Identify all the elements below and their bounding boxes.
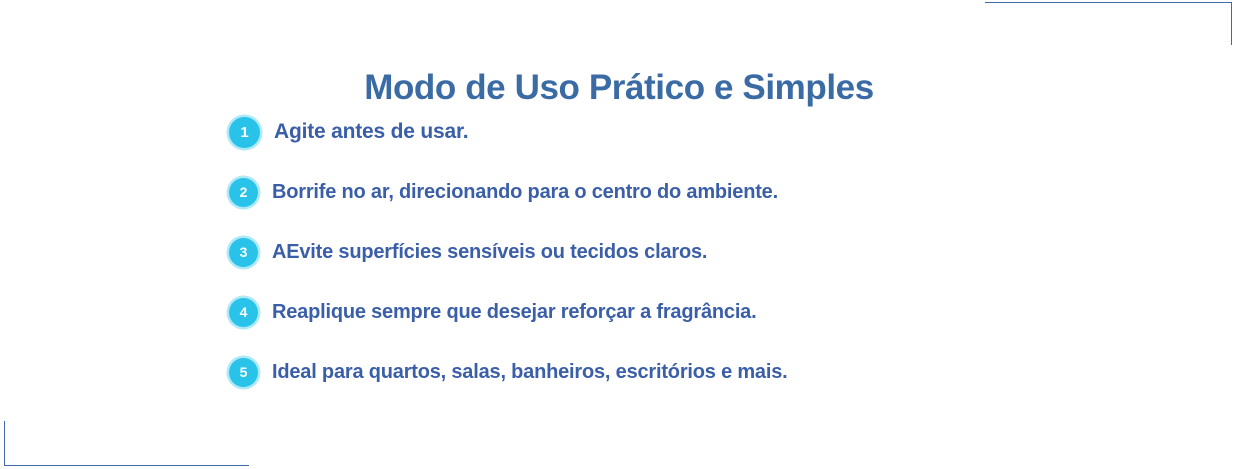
step-text: Ideal para quartos, salas, banheiros, es… [272, 360, 788, 384]
page-title: Modo de Uso Prático e Simples [0, 67, 1238, 109]
list-item: 4 Reaplique sempre que desejar reforçar … [229, 294, 1129, 330]
step-number-badge: 2 [229, 178, 258, 207]
list-item: 5 Ideal para quartos, salas, banheiros, … [229, 354, 1129, 390]
decorative-corner-top-right [985, 2, 1232, 45]
step-number-badge: 4 [229, 298, 258, 327]
slide-canvas: Modo de Uso Prático e Simples 1 Agite an… [0, 0, 1238, 469]
step-text: Agite antes de usar. [274, 120, 468, 144]
list-item: 2 Borrife no ar, direcionando para o cen… [229, 174, 1129, 210]
steps-list: 1 Agite antes de usar. 2 Borrife no ar, … [229, 114, 1129, 390]
step-text: Borrife no ar, direcionando para o centr… [272, 180, 778, 204]
decorative-corner-bottom-left [4, 421, 249, 466]
step-text: Reaplique sempre que desejar reforçar a … [272, 300, 756, 324]
step-number-badge: 1 [229, 117, 260, 148]
step-text: AEvite superfícies sensíveis ou tecidos … [272, 240, 707, 264]
list-item: 3 AEvite superfícies sensíveis ou tecido… [229, 234, 1129, 270]
step-number-badge: 3 [229, 238, 258, 267]
list-item: 1 Agite antes de usar. [229, 114, 1129, 150]
step-number-badge: 5 [229, 358, 258, 387]
